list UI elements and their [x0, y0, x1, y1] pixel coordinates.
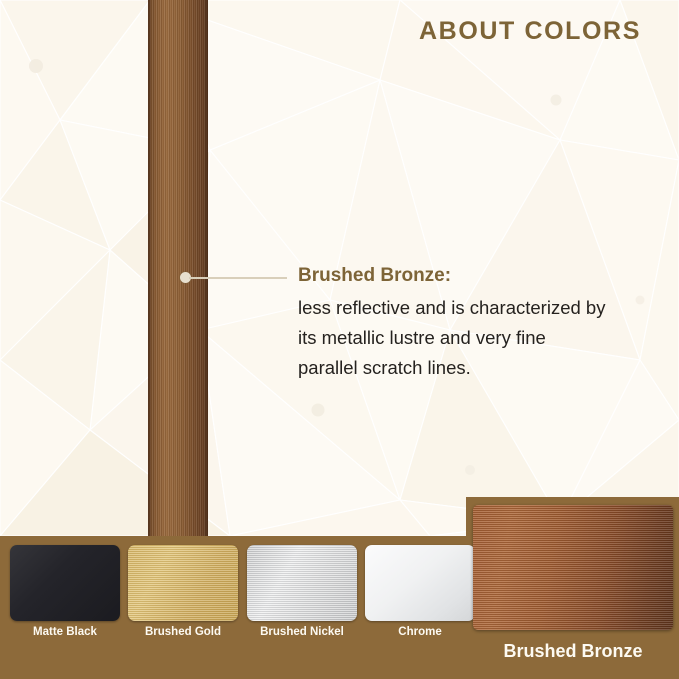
bar-left-edge-shadow	[148, 0, 151, 536]
description-line-3: parallel scratch lines.	[298, 353, 658, 383]
swatch-brushed-nickel[interactable]	[247, 545, 357, 621]
infographic-canvas: ABOUT COLORS Brushed Bronze: less reflec…	[0, 0, 679, 679]
swatch-brushed-gold[interactable]	[128, 545, 238, 621]
callout-leader-line	[189, 277, 287, 279]
swatch-label-brushed-bronze: Brushed Bronze	[473, 641, 673, 662]
description-line-2: its metallic lustre and very fine	[298, 323, 658, 353]
swatch-label-brushed-nickel: Brushed Nickel	[247, 626, 357, 638]
description-line-1: less reflective and is characterized by	[298, 293, 658, 323]
swatch-brushed-bronze-featured[interactable]	[473, 505, 673, 630]
callout-description: less reflective and is characterized by …	[298, 293, 658, 383]
brushed-bronze-product-bar	[148, 0, 208, 536]
page-title: ABOUT COLORS	[419, 17, 641, 46]
swatch-label-brushed-gold: Brushed Gold	[128, 626, 238, 638]
swatch-chrome[interactable]	[365, 545, 475, 621]
swatch-label-chrome: Chrome	[365, 626, 475, 638]
callout-heading: Brushed Bronze:	[298, 265, 451, 287]
swatch-matte-black[interactable]	[10, 545, 120, 621]
swatch-label-matte-black: Matte Black	[10, 626, 120, 638]
bar-right-edge-shadow	[204, 0, 208, 536]
